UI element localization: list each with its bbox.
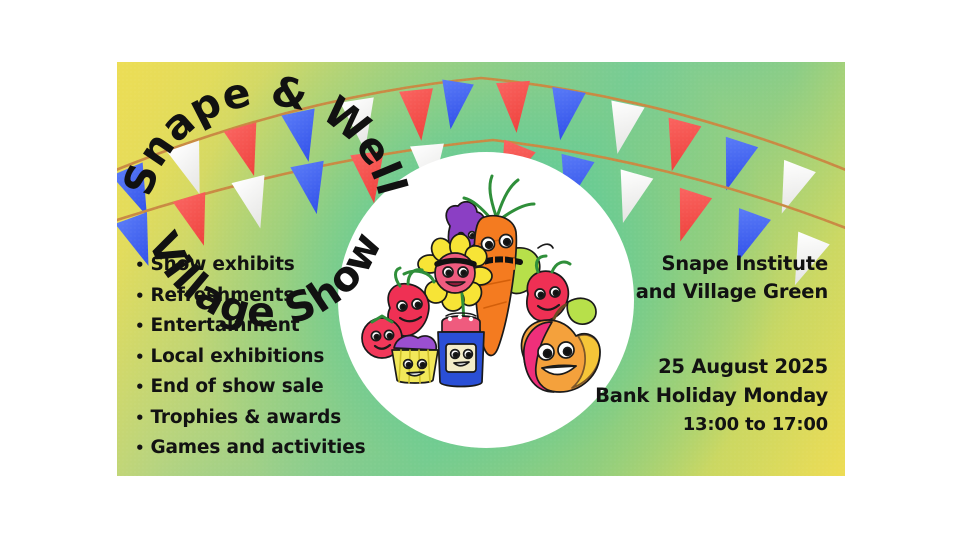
- svg-text:Snape & Well: Snape & Well: [117, 66, 413, 201]
- bullet-glyph-icon: •: [135, 282, 144, 312]
- list-item: • End of show sale: [135, 372, 350, 403]
- list-item: • Trophies & awards: [135, 403, 350, 434]
- event-time: 13:00 to 17:00: [568, 410, 828, 439]
- date-time-block: 25 August 2025 Bank Holiday Monday 13:00…: [568, 352, 828, 439]
- venue-line-1: Snape Institute: [568, 250, 828, 278]
- features-bullet-list: • Show exhibits • Refreshments • Enterta…: [135, 250, 350, 464]
- bullet-glyph-icon: •: [135, 343, 144, 373]
- bullet-glyph-icon: •: [135, 312, 144, 342]
- list-item-label: Trophies & awards: [150, 403, 341, 433]
- village-show-poster: Snape & Well Village Show: [117, 62, 845, 476]
- list-item-label: Entertainment: [150, 311, 299, 341]
- venue-line-2: and Village Green: [568, 278, 828, 306]
- list-item: • Local exhibitions: [135, 342, 350, 373]
- logo-top-arc-text: Snape & Well: [117, 66, 413, 201]
- bullet-glyph-icon: •: [135, 434, 144, 464]
- venue-block: Snape Institute and Village Green: [568, 250, 828, 306]
- list-item: • Show exhibits: [135, 250, 350, 281]
- list-item: • Refreshments: [135, 281, 350, 312]
- event-day: Bank Holiday Monday: [568, 381, 828, 410]
- list-item-label: End of show sale: [150, 372, 323, 402]
- list-item-label: Local exhibitions: [150, 342, 324, 372]
- screenshot-canvas: Snape & Well Village Show: [0, 0, 960, 541]
- list-item-label: Show exhibits: [150, 250, 294, 280]
- bullet-glyph-icon: •: [135, 404, 144, 434]
- list-item-label: Games and activities: [150, 433, 365, 463]
- bullet-glyph-icon: •: [135, 373, 144, 403]
- list-item: • Entertainment: [135, 311, 350, 342]
- list-item: • Games and activities: [135, 433, 350, 464]
- event-date: 25 August 2025: [568, 352, 828, 381]
- list-item-label: Refreshments: [150, 281, 294, 311]
- bullet-glyph-icon: •: [135, 251, 144, 281]
